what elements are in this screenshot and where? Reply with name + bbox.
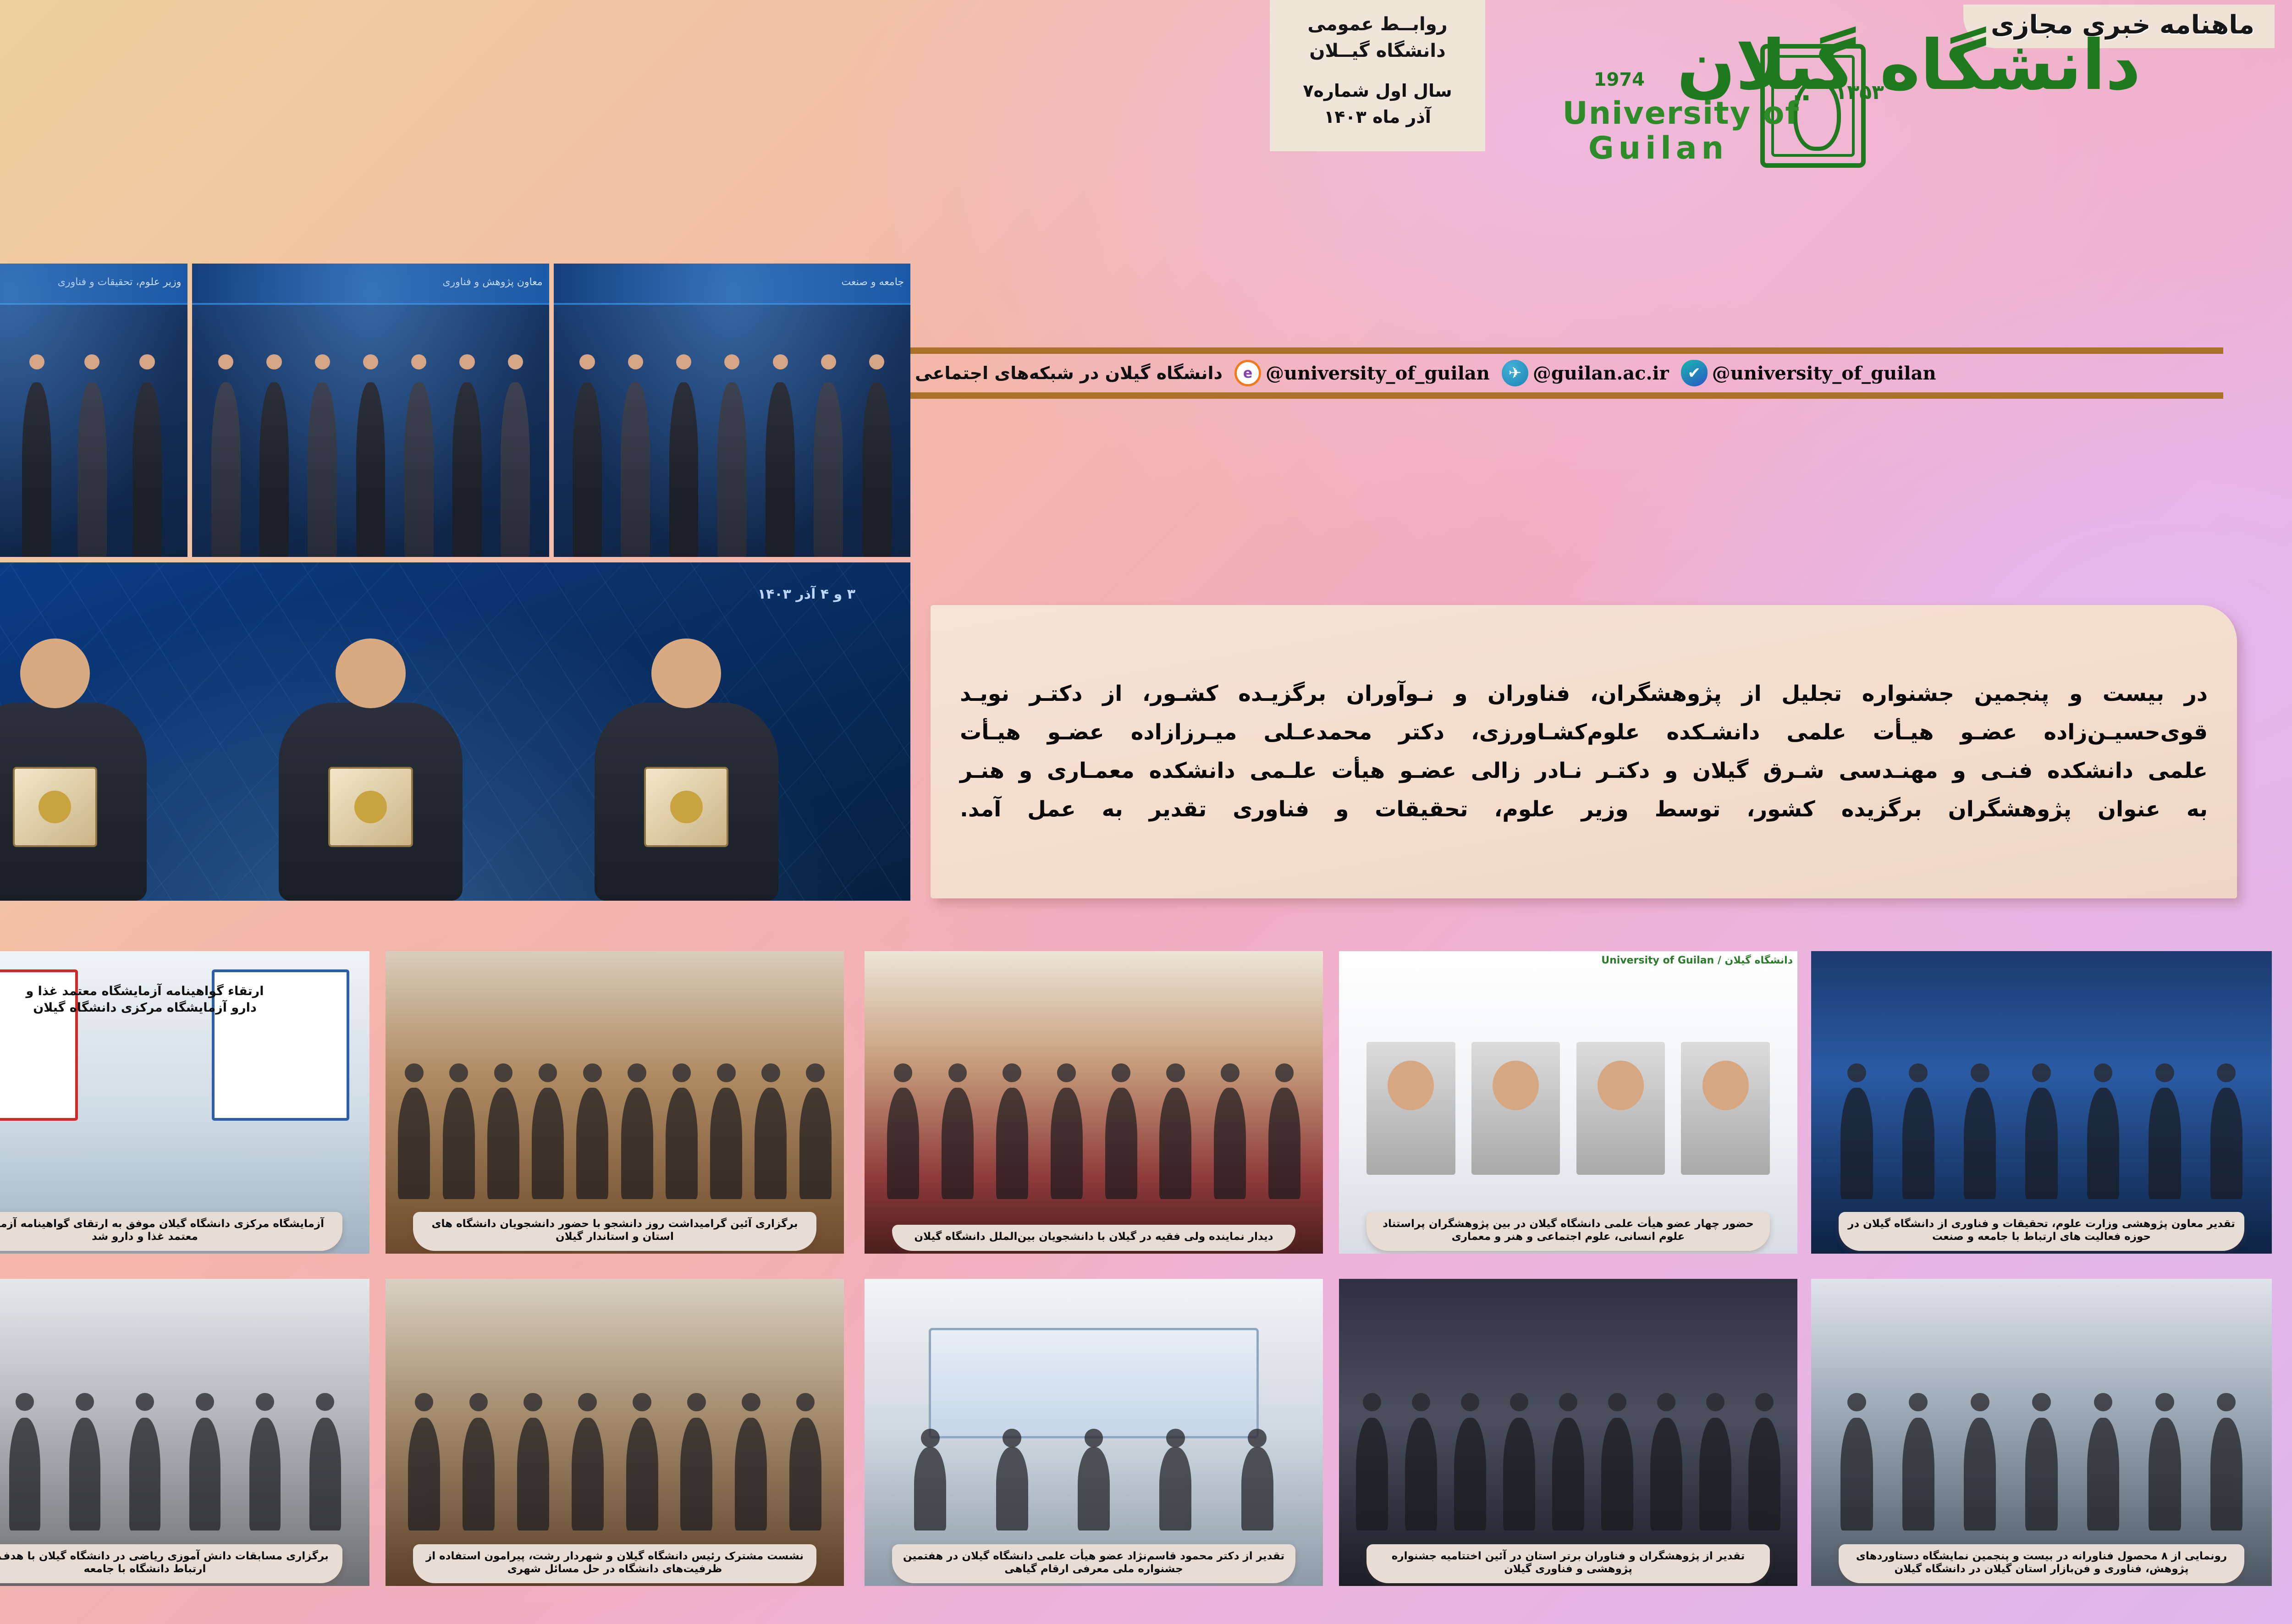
card-photo [1811, 951, 2272, 1254]
hero-cell-1: جامعه و صنعت [554, 264, 910, 557]
card-photo [865, 951, 1323, 1254]
card-caption: رونمایی از ۸ محصول فناورانه در بیست و پن… [1839, 1544, 2244, 1584]
social-media-bar: دانشگاه گیلان در شبکه‌های اجتماعی e @uni… [903, 347, 2223, 399]
social-item-eitaa[interactable]: e @university_of_guilan [1234, 360, 1490, 386]
social-item-telegram[interactable]: ✈ @guilan.ac.ir [1502, 360, 1669, 386]
news-card-row2-6[interactable]: تقدیر از پژوهشگران و فناوران برتر استان … [1339, 1279, 1797, 1586]
card-photo [1339, 1279, 1797, 1586]
card-caption: حضور چهار عضو هیأت علمی دانشگاه گیلان در… [1366, 1212, 1770, 1251]
card-overlay-title: ارتقاء گواهینامه آزمایشگاه معتمد غذا و د… [26, 983, 264, 1017]
news-card-row2-7[interactable]: رونمایی از ۸ محصول فناورانه در بیست و پن… [1811, 1279, 2272, 1586]
card-photo [0, 1279, 369, 1586]
social-handle-bale[interactable]: @university_of_guilan [1712, 363, 1936, 384]
hero-date-tag: ۳ و ۴ آذر ۱۴۰۳ [758, 586, 855, 602]
logo-name-en-line1: University of [1562, 95, 1800, 132]
issue-number: سال اول شماره۷ [1270, 78, 1485, 104]
eitaa-icon: e [1234, 360, 1261, 386]
pr-line-1: روابــط عمومی [1270, 11, 1485, 38]
card-logo-label: دانشگاه گیلان / University of Guilan [1601, 955, 1793, 966]
card-photo [386, 1279, 844, 1586]
news-paragraph-1: در بیست و پنجمین جشنواره تجلیل از پژوهشگ… [960, 682, 2208, 706]
university-logo: دانشگاه گیلان ۱۳۵۳ 1974 University of Gu… [1499, 26, 2141, 172]
card-caption: آزمایشگاه مرکزی دانشگاه گیلان موفق به ار… [0, 1212, 342, 1251]
card-caption: تقدیر از دکتر محمود قاسم‌نژاد عضو هیأت ع… [892, 1544, 1295, 1584]
logo-year-en: 1974 [1594, 69, 1645, 90]
news-card-row2-4[interactable]: نشست مشترک رئیس دانشگاه گیلان و شهردار ر… [386, 1279, 844, 1586]
card-caption: نشست مشترک رئیس دانشگاه گیلان و شهردار ر… [413, 1544, 816, 1584]
hero-cell-2: معاون پژوهش و فناوری [192, 264, 549, 557]
card-photo [1811, 1279, 2272, 1586]
social-label: دانشگاه گیلان در شبکه‌های اجتماعی [915, 363, 1223, 383]
issue-date: آذر ماه ۱۴۰۳ [1270, 104, 1485, 130]
hero-photo-montage: جامعه و صنعت معاون پژوهش و فناوری وزیر ع… [0, 264, 910, 901]
card-caption: برگزاری آئین گرامیداشت روز دانشجو با حضو… [413, 1212, 816, 1251]
news-card-row1-7[interactable]: تقدیر معاون پژوهشی وزارت علوم، تحقیقات و… [1811, 951, 2272, 1254]
hero-main-photo: ۳ و ۴ آذر ۱۴۰۳ [0, 562, 910, 901]
social-item-bale[interactable]: ✔ @university_of_guilan [1681, 360, 1936, 386]
main-news-panel: در بیست و پنجمین جشنواره تجلیل از پژوهشگ… [931, 605, 2237, 898]
hero-top-strip: جامعه و صنعت معاون پژوهش و فناوری وزیر ع… [0, 264, 910, 557]
news-card-row1-5[interactable]: دیدار نماینده ولی فقیه در گیلان با دانشج… [865, 951, 1323, 1254]
logo-name-en-line2: Guilan [1588, 130, 1728, 166]
news-card-row2-3[interactable]: برگزاری مسابقات دانش آموزی ریاضی در دانش… [0, 1279, 369, 1586]
hero-awardees [0, 610, 910, 901]
news-card-row1-6[interactable]: دانشگاه گیلان / University of Guilan حضو… [1339, 951, 1797, 1254]
news-paragraph-2: قوی‌حسیـن‌زاده عضـو هیـأت علمی دانشـکده … [960, 720, 2208, 745]
card-caption: تقدیر معاون پژوهشی وزارت علوم، تحقیقات و… [1839, 1212, 2244, 1251]
social-handle-eitaa[interactable]: @university_of_guilan [1266, 363, 1490, 384]
card-caption: برگزاری مسابقات دانش آموزی ریاضی در دانش… [0, 1544, 342, 1584]
poster-canvas: عزیزترین مردم در نزد من است سلام الله عل… [0, 0, 2292, 1624]
news-card-row1-4[interactable]: برگزاری آئین گرامیداشت روز دانشجو با حضو… [386, 951, 844, 1254]
news-card-row2-5[interactable]: تقدیر از دکتر محمود قاسم‌نژاد عضو هیأت ع… [865, 1279, 1323, 1586]
news-card-row1-3[interactable]: ارتقاء گواهینامه آزمایشگاه معتمد غذا و د… [0, 951, 369, 1254]
social-handle-telegram[interactable]: @guilan.ac.ir [1533, 363, 1669, 384]
issue-block: سال اول شماره۷ آذر ماه ۱۴۰۳ [1270, 78, 1485, 130]
card-photo [386, 951, 844, 1254]
pr-line-2: دانشگاه گیــلان [1270, 38, 1485, 64]
card-caption: تقدیر از پژوهشگران و فناوران برتر استان … [1366, 1544, 1770, 1584]
card-photo: دانشگاه گیلان / University of Guilan [1339, 951, 1797, 1254]
telegram-icon: ✈ [1502, 360, 1528, 386]
logo-name-fa: دانشگاه گیلان [1677, 26, 2141, 105]
news-paragraph-4: به عنوان پژوهشگران برگزیده کشور، توسط وز… [960, 797, 2208, 822]
hero-cell-3: وزیر علوم، تحقیقات و فناوری [0, 264, 187, 557]
card-photo [865, 1279, 1323, 1586]
card-caption: دیدار نماینده ولی فقیه در گیلان با دانشج… [892, 1225, 1295, 1251]
news-paragraph-3: علمی دانشکده فنـی و مهنـدسی شـرق گیلان و… [960, 759, 2208, 783]
bale-icon: ✔ [1681, 360, 1708, 386]
